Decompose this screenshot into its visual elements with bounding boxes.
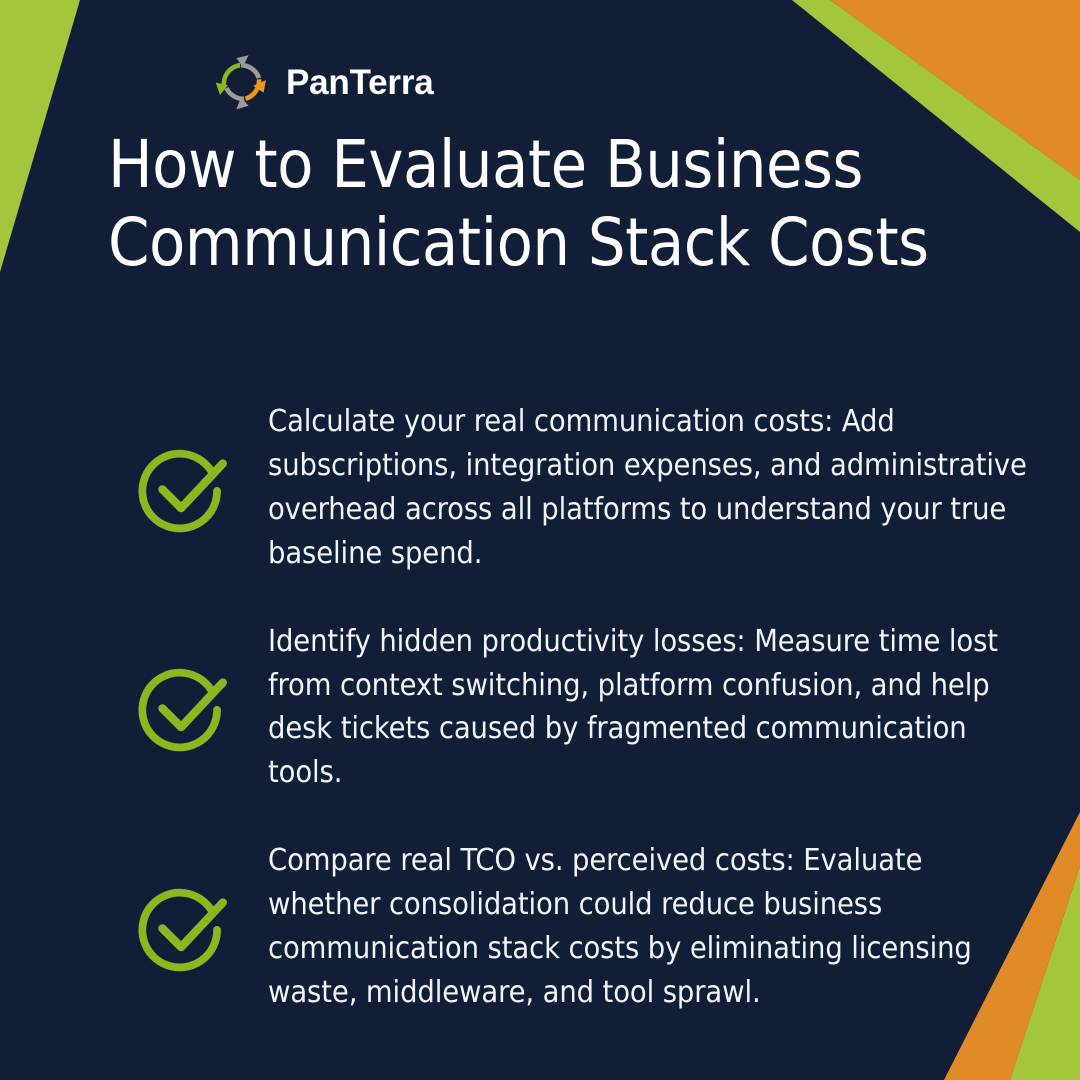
benefit-text: Compare real TCO vs. perceived costs: Ev… <box>268 839 1040 1015</box>
logo-arc-orange <box>245 79 262 101</box>
list-item: Compare real TCO vs. perceived costs: Ev… <box>100 839 1040 1015</box>
benefit-icon-wrap <box>100 442 268 534</box>
brand-logo: PanTerra <box>212 52 434 112</box>
benefits-list: Calculate your real communication costs:… <box>100 400 1040 1015</box>
list-item: Identify hidden productivity losses: Mea… <box>100 620 1040 796</box>
check-circle-icon <box>138 661 230 753</box>
infographic-card: PanTerra How to Evaluate Business Commun… <box>0 0 1080 1080</box>
green-wedge-top-left <box>0 0 80 272</box>
logo-arc-green <box>221 63 240 88</box>
list-item: Calculate your real communication costs:… <box>100 400 1040 576</box>
logo-arc-gray-top <box>241 63 261 79</box>
benefit-icon-wrap <box>100 881 268 973</box>
check-circle-icon <box>138 442 230 534</box>
benefit-text: Identify hidden productivity losses: Mea… <box>268 620 1040 796</box>
benefit-icon-wrap <box>100 661 268 753</box>
benefit-text: Calculate your real communication costs:… <box>268 400 1040 576</box>
circular-arrows-logo-icon <box>212 52 272 112</box>
page-title: How to Evaluate Business Communication S… <box>108 126 1008 282</box>
brand-wordmark: PanTerra <box>286 65 434 100</box>
check-circle-icon <box>138 881 230 973</box>
